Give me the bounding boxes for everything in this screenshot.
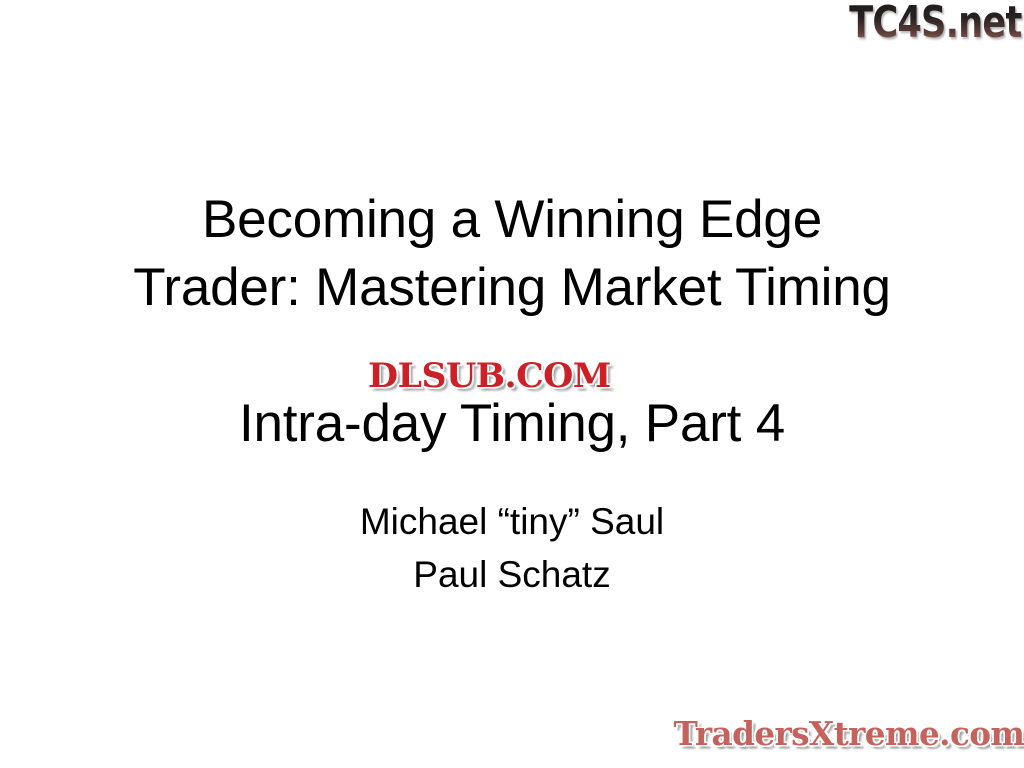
author-name-2: Paul Schatz [0, 548, 1024, 601]
watermark-tc4s-net: TC4S.net [850, 0, 1022, 48]
author-name-1: Michael “tiny” Saul [0, 495, 1024, 548]
slide-subtitle: Intra-day Timing, Part 4 [0, 390, 1024, 458]
slide-authors: Michael “tiny” Saul Paul Schatz [0, 495, 1024, 601]
title-line-2: Trader: Mastering Market Timing [0, 254, 1024, 322]
presentation-slide: TC4S.net Becoming a Winning Edge Trader:… [0, 0, 1024, 768]
subtitle-line-1: Intra-day Timing, Part 4 [0, 390, 1024, 458]
title-line-1: Becoming a Winning Edge [0, 186, 1024, 254]
watermark-tradersxtreme-com: TradersXtreme.com [673, 714, 1024, 754]
slide-title: Becoming a Winning Edge Trader: Masterin… [0, 186, 1024, 322]
